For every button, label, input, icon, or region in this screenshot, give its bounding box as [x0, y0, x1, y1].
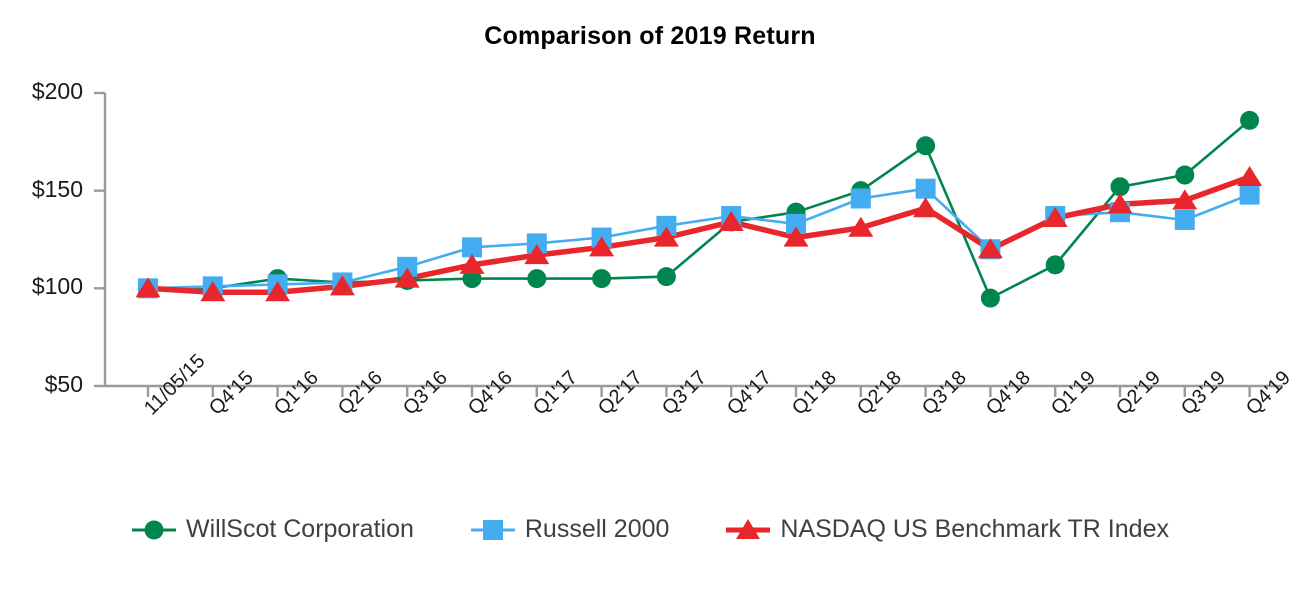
data-point-circle [1240, 111, 1259, 130]
y-axis-tick-label: $100 [0, 273, 83, 300]
data-point-triangle [1237, 166, 1262, 186]
series-1 [148, 189, 1250, 289]
legend-item[interactable]: NASDAQ US Benchmark TR Index [725, 515, 1169, 544]
data-point-square [1175, 210, 1195, 230]
data-point-circle [657, 267, 676, 286]
data-point-circle [1175, 166, 1194, 185]
data-point-triangle [913, 197, 938, 217]
series-line [148, 189, 1250, 289]
legend-label: Russell 2000 [525, 515, 670, 544]
return-comparison-chart: Comparison of 2019 Return $50$100$150$20… [0, 0, 1300, 596]
square-marker-icon [470, 517, 516, 543]
data-point-square [1240, 185, 1260, 205]
legend-item[interactable]: WillScot Corporation [131, 515, 414, 544]
legend-label: WillScot Corporation [186, 515, 414, 544]
series-line [148, 177, 1250, 292]
data-point-square [916, 179, 936, 199]
data-point-circle [592, 269, 611, 288]
circle-marker-icon [131, 517, 177, 543]
legend-item[interactable]: Russell 2000 [470, 515, 670, 544]
triangle-marker-icon [725, 517, 771, 543]
series-2 [148, 177, 1250, 292]
data-point-circle [1046, 255, 1065, 274]
data-point-circle [981, 289, 1000, 308]
y-axis-tick-label: $150 [0, 176, 83, 203]
y-axis-tick-label: $50 [0, 371, 83, 398]
plot-area [0, 0, 1300, 596]
y-axis-tick-label: $200 [0, 78, 83, 105]
data-point-square [851, 188, 871, 208]
data-point-circle [527, 269, 546, 288]
data-point-circle [916, 136, 935, 155]
chart-legend: WillScot CorporationRussell 2000NASDAQ U… [0, 515, 1300, 544]
legend-label: NASDAQ US Benchmark TR Index [780, 515, 1169, 544]
